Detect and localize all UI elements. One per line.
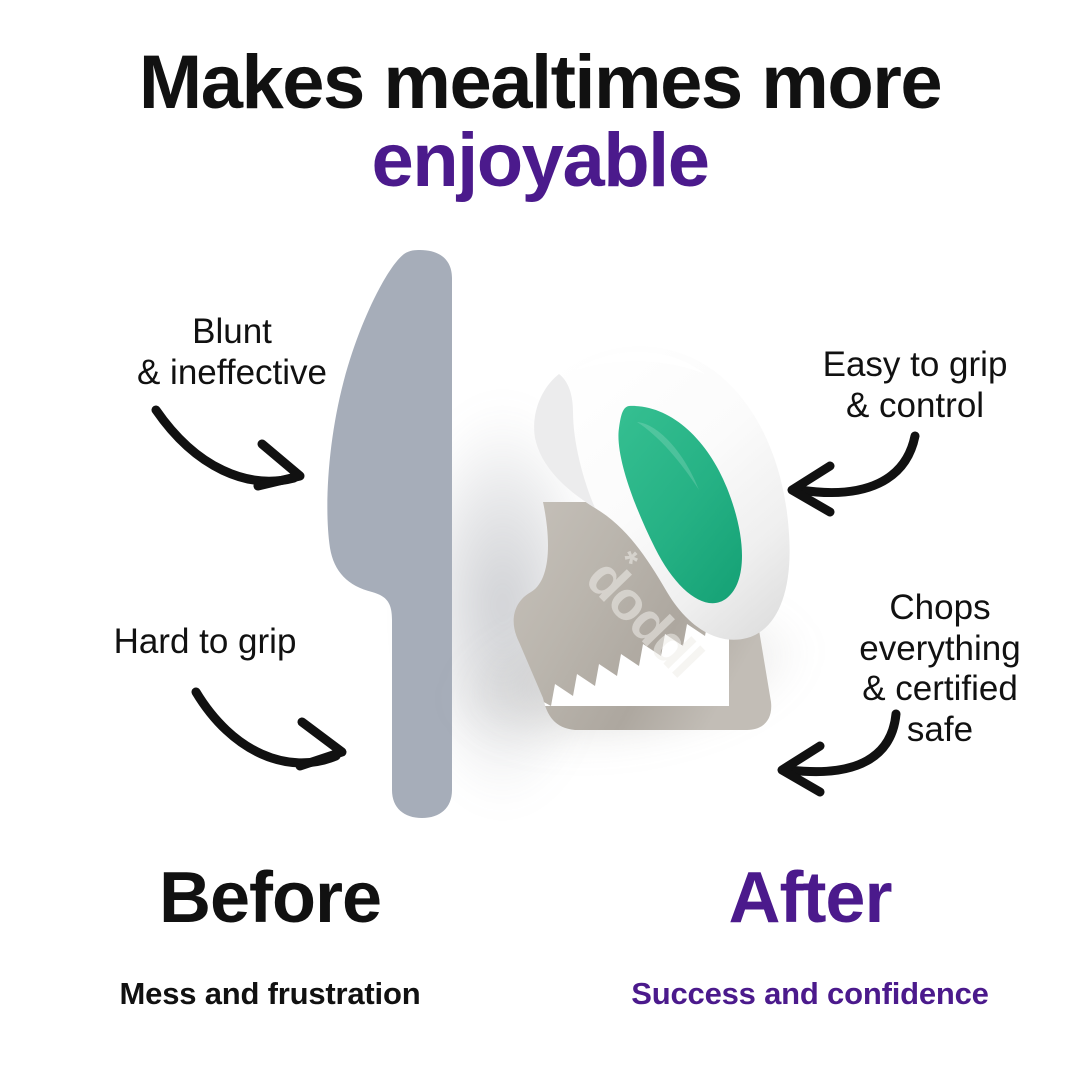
before-after-compare: Before Mess and frustration After Succes… [0,862,1080,1012]
compare-column-before: Before Mess and frustration [0,862,540,1012]
after-title: After [540,862,1080,934]
callout-chops-certified-safe: Chops everything & certified safe [845,588,1035,750]
compare-column-after: After Success and confidence [540,862,1080,1012]
after-subtitle: Success and confidence [540,976,1080,1012]
before-title: Before [0,862,540,934]
callout-hard-to-grip: Hard to grip [60,622,350,663]
before-subtitle: Mess and frustration [0,976,540,1012]
callout-blunt-ineffective: Blunt & ineffective [82,312,382,393]
callout-easy-to-grip: Easy to grip & control [790,345,1040,426]
